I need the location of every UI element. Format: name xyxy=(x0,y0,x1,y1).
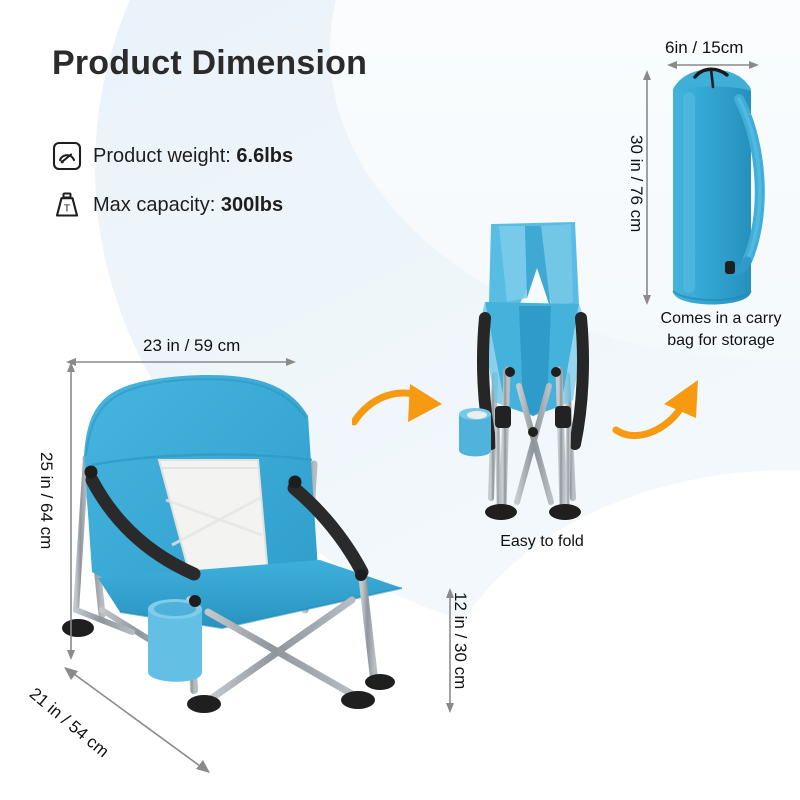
folded-cup-holder xyxy=(459,408,491,456)
spec-max-capacity-text: Max capacity: 300lbs xyxy=(93,194,283,217)
dimension-arrow-bag-height xyxy=(640,70,654,310)
dimension-arrow-seat-height xyxy=(443,588,457,718)
spec-max-capacity-label: Max capacity: xyxy=(93,194,221,216)
caption-carry-bag-line1: Comes in a carry xyxy=(636,308,800,330)
dimension-arrow-chair-width xyxy=(66,355,296,374)
svg-text:T: T xyxy=(64,203,71,215)
carry-bag-illustration xyxy=(655,55,800,320)
spec-max-capacity: T Max capacity: 300lbs xyxy=(52,190,283,220)
flow-arrow-chair-to-folded xyxy=(352,382,452,445)
folded-chair-illustration xyxy=(455,210,610,540)
caption-easy-to-fold: Easy to fold xyxy=(462,531,622,553)
spec-max-capacity-value: 300lbs xyxy=(221,194,283,216)
dimension-arrow-bag-width xyxy=(667,58,759,77)
flow-arrow-folded-to-bag xyxy=(612,378,712,445)
dimension-label-bag-width: 6in / 15cm xyxy=(665,38,743,58)
product-dimension-infographic: Product Dimension Product weight: 6.6lbs… xyxy=(0,0,800,800)
spec-product-weight-value: 6.6lbs xyxy=(236,145,293,167)
weight-icon: T xyxy=(52,190,82,220)
dimension-arrow-chair-depth xyxy=(62,665,212,780)
page-title: Product Dimension xyxy=(52,44,367,83)
spec-product-weight-label: Product weight: xyxy=(93,145,236,167)
gauge-icon xyxy=(52,141,82,171)
caption-carry-bag: Comes in a carry bag for storage xyxy=(636,308,800,351)
dimension-label-chair-height: 25 in / 64 cm xyxy=(36,452,56,549)
dimension-arrow-chair-height xyxy=(64,362,78,665)
caption-carry-bag-line2: bag for storage xyxy=(636,330,800,352)
dimension-label-chair-width: 23 in / 59 cm xyxy=(143,336,240,356)
spec-product-weight: Product weight: 6.6lbs xyxy=(52,141,293,171)
spec-product-weight-text: Product weight: 6.6lbs xyxy=(93,145,293,168)
